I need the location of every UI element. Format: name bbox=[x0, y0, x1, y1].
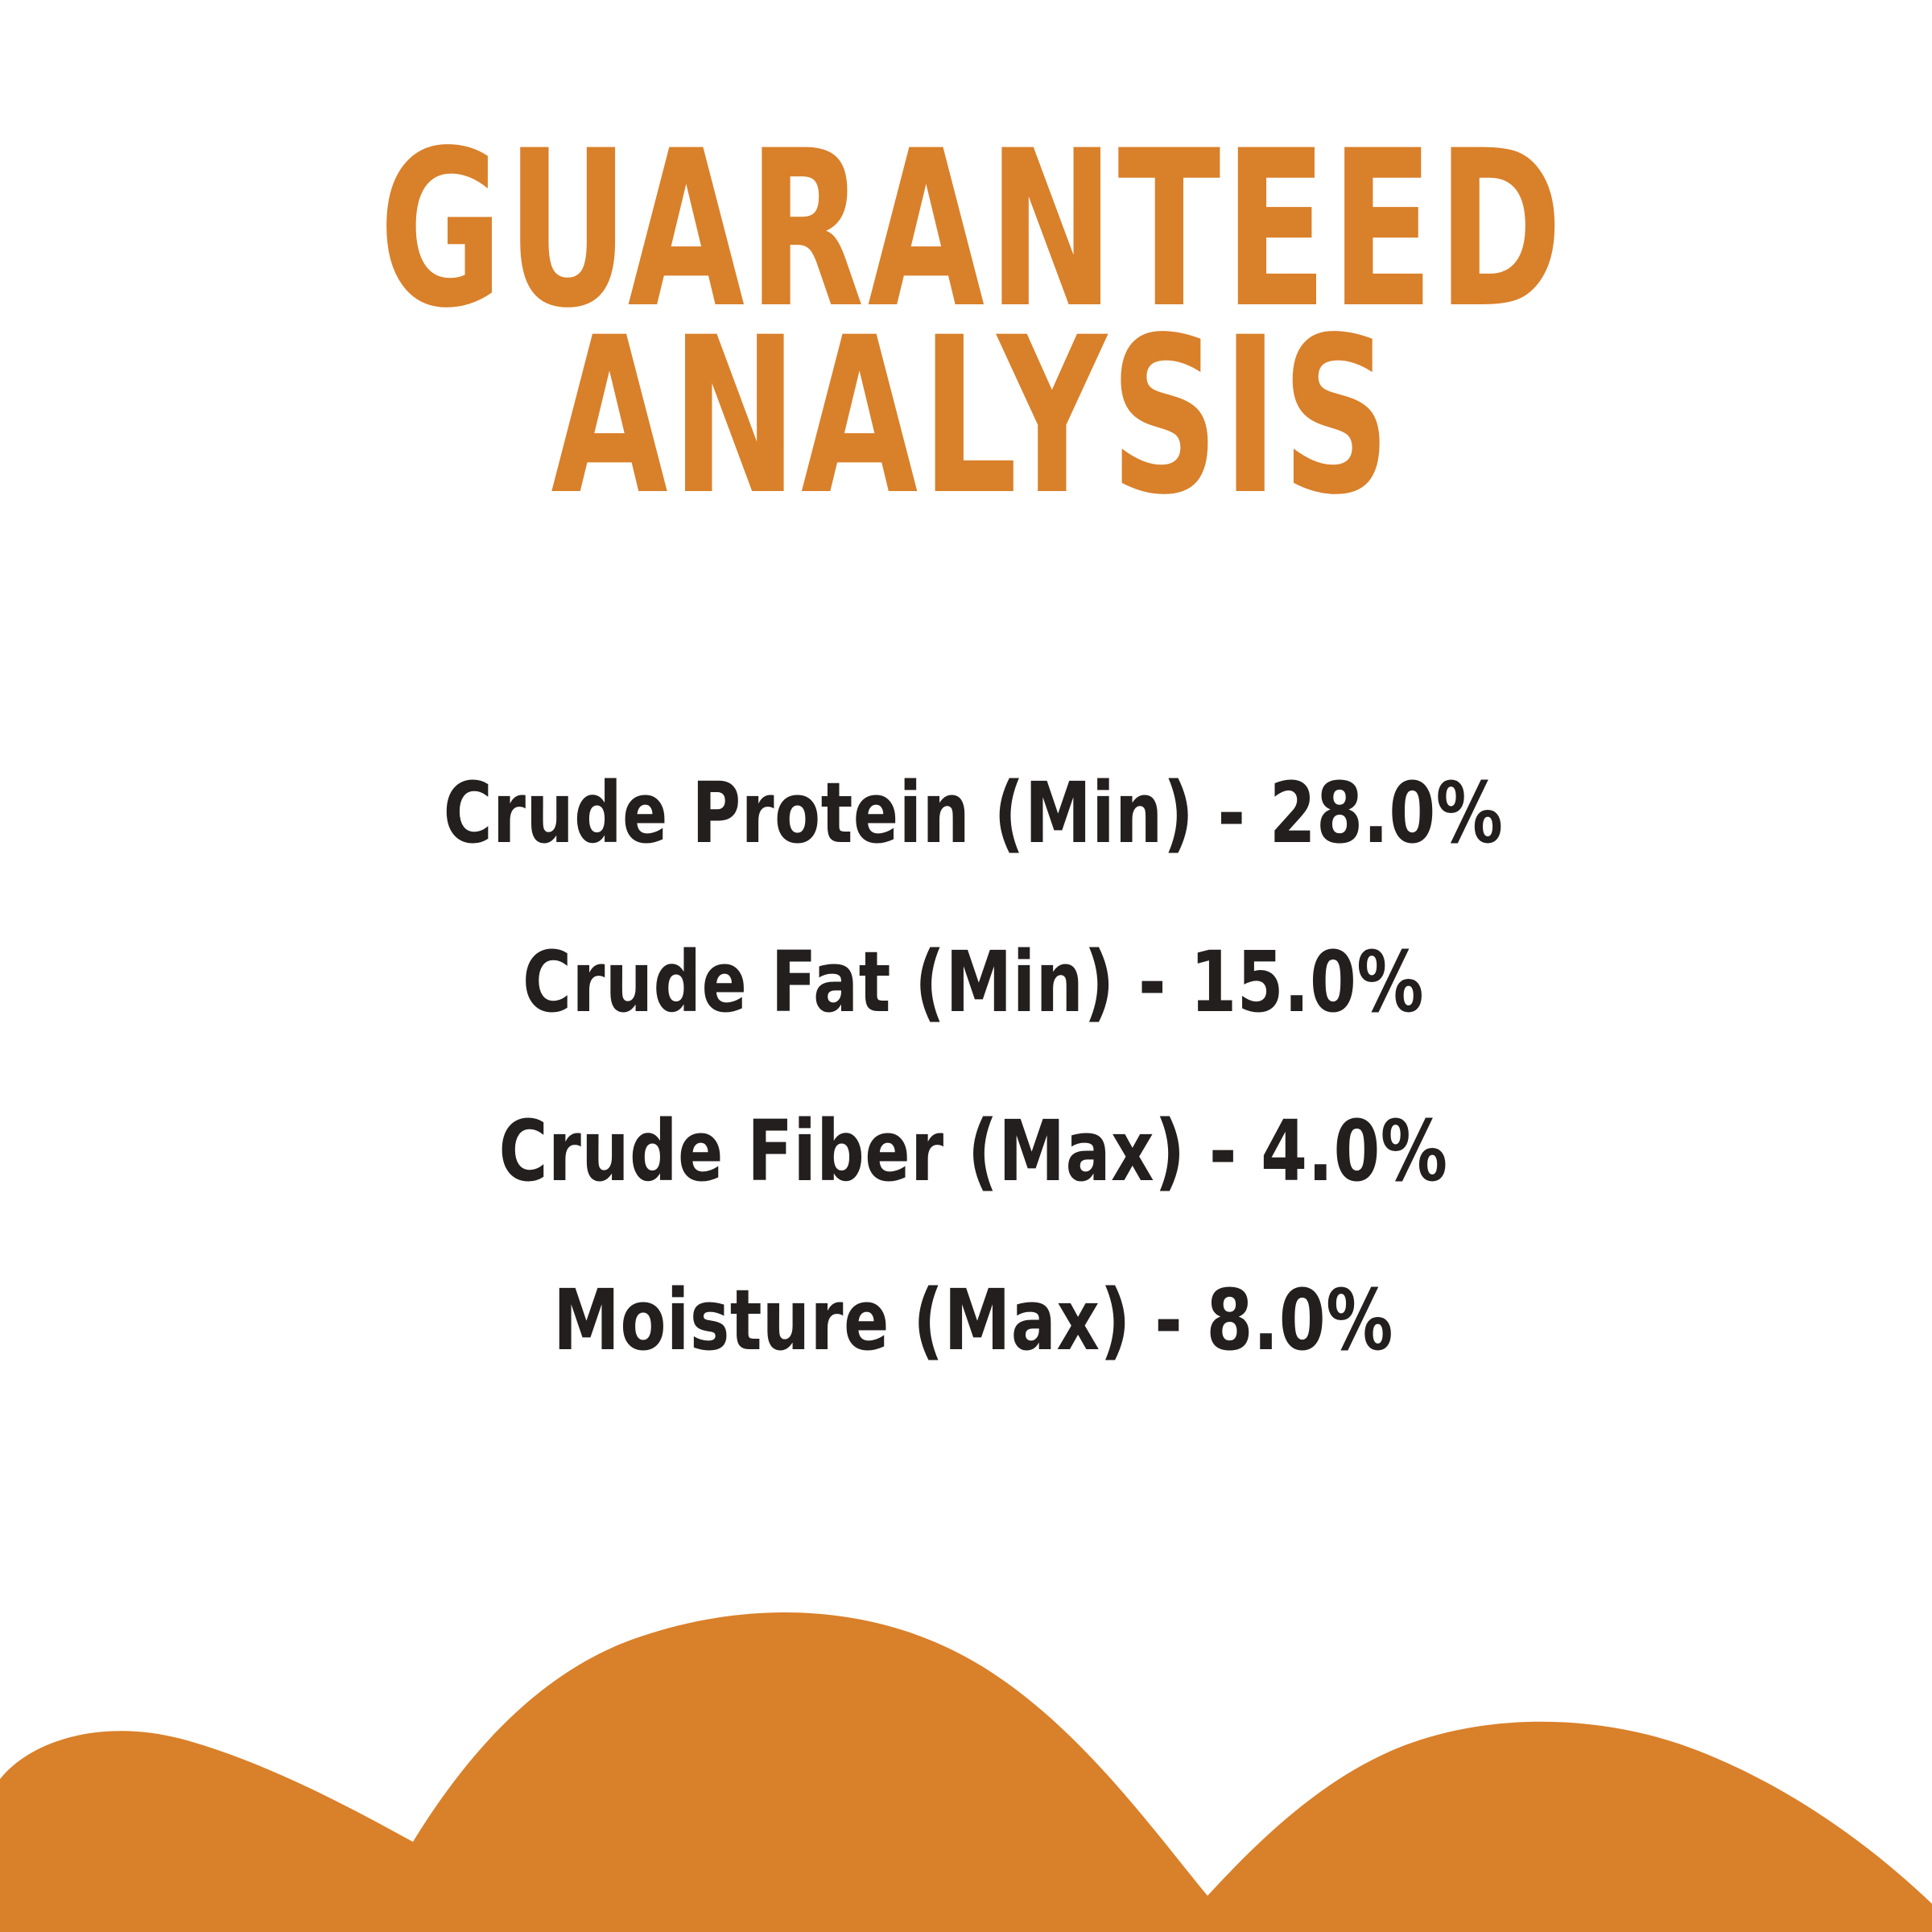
guaranteed-analysis-list: Crude Protein (Min) - 28.0% Crude Fat (M… bbox=[0, 729, 1932, 1405]
scalloped-bottom-border bbox=[0, 1594, 1932, 1932]
analysis-row-crude-protein: Crude Protein (Min) - 28.0% bbox=[206, 729, 1740, 898]
scalloped-bottom-shape bbox=[0, 1594, 1932, 1932]
analysis-row-crude-fiber: Crude Fiber (Max) - 4.0% bbox=[206, 1067, 1740, 1236]
guaranteed-analysis-panel: GUARANTEED ANALYSIS Crude Protein (Min) … bbox=[0, 0, 1932, 1932]
analysis-row-crude-fat: Crude Fat (Min) - 15.0% bbox=[206, 898, 1740, 1067]
page-title-line-2: ANALYSIS bbox=[301, 324, 1645, 510]
scallop-path bbox=[0, 1612, 1932, 1932]
analysis-row-moisture: Moisture (Max) - 8.0% bbox=[206, 1236, 1740, 1405]
page-title: GUARANTEED ANALYSIS bbox=[0, 137, 1932, 510]
